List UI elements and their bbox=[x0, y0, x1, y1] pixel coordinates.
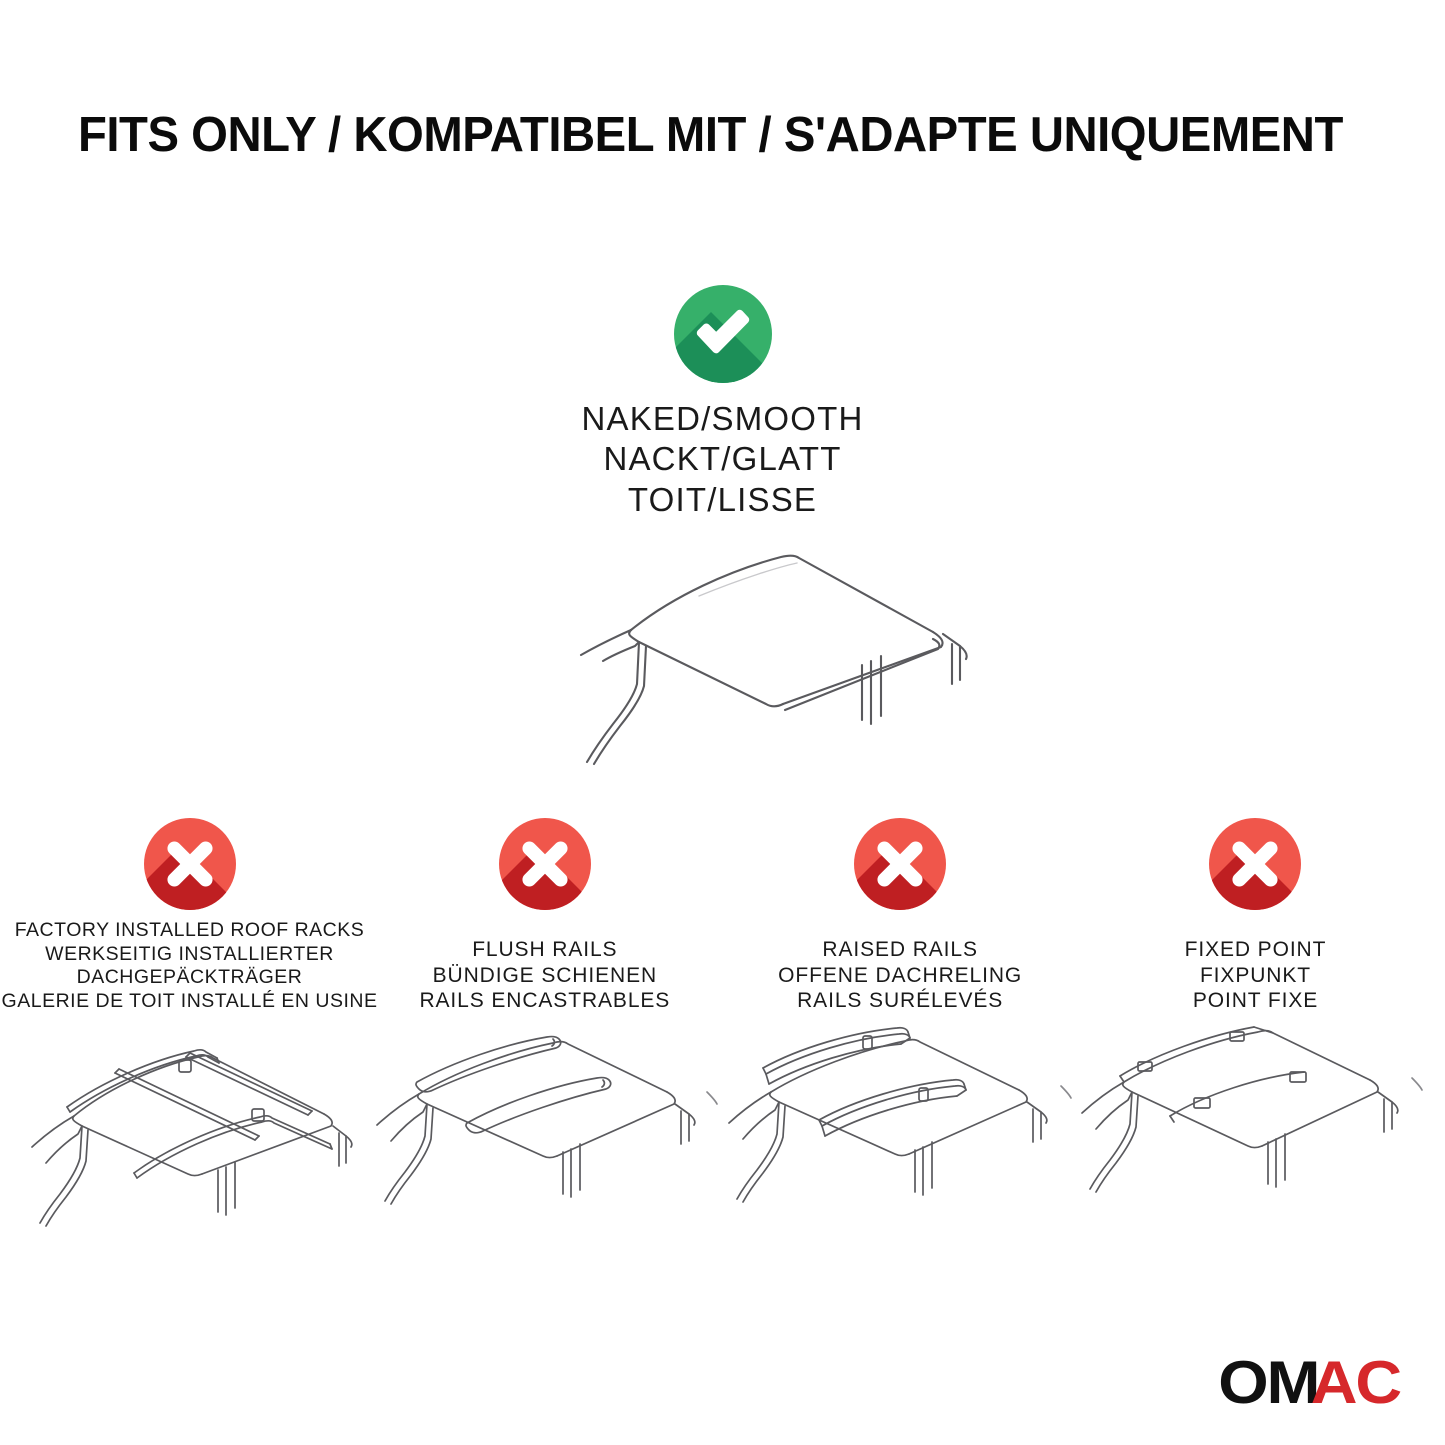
x-circle-icon bbox=[499, 818, 591, 910]
car-roof-flush-rails-illustration bbox=[367, 1024, 722, 1239]
incompatible-section: FACTORY INSTALLED ROOF RACKS WERKSEITIG … bbox=[0, 818, 1445, 1239]
x-circle-icon bbox=[854, 818, 946, 910]
car-roof-factory-roof-racks-illustration bbox=[12, 1024, 367, 1239]
x-mark-glyph bbox=[854, 818, 946, 910]
label-line-de: FIXPUNKT bbox=[1185, 963, 1327, 989]
incompatible-label-raised-rails: RAISED RAILS OFFENE DACHRELING RAILS SUR… bbox=[778, 922, 1022, 1014]
incompatible-label-fixed-point: FIXED POINT FIXPUNKT POINT FIXE bbox=[1185, 922, 1327, 1014]
omac-logo: OM AC bbox=[1222, 1353, 1397, 1413]
label-line-en: RAISED RAILS bbox=[778, 937, 1022, 963]
label-line-en: FACTORY INSTALLED ROOF RACKS bbox=[2, 919, 378, 943]
incompatible-label-factory-roof-racks: FACTORY INSTALLED ROOF RACKS WERKSEITIG … bbox=[2, 922, 378, 1014]
incompatible-label-flush-rails: FLUSH RAILS BÜNDIGE SCHIENEN RAILS ENCAS… bbox=[419, 922, 670, 1014]
label-line-de: OFFENE DACHRELING bbox=[778, 963, 1022, 989]
label-line-de-2: DACHGEPÄCKTRÄGER bbox=[2, 966, 378, 990]
x-mark-glyph bbox=[144, 818, 236, 910]
compatible-section: NAKED/SMOOTH NACKT/GLATT TOIT/LISSE bbox=[0, 285, 1445, 784]
incompatible-item-raised-rails: RAISED RAILS OFFENE DACHRELING RAILS SUR… bbox=[723, 818, 1078, 1239]
compatible-label-de: NACKT/GLATT bbox=[581, 439, 863, 479]
label-line-en: FLUSH RAILS bbox=[419, 937, 670, 963]
page-title: FITS ONLY / KOMPATIBEL MIT / S'ADAPTE UN… bbox=[78, 104, 1378, 166]
label-line-fr: GALERIE DE TOIT INSTALLÉ EN USINE bbox=[2, 990, 378, 1014]
car-roof-raised-rails-illustration bbox=[723, 1024, 1078, 1239]
x-circle-icon bbox=[1209, 818, 1301, 910]
x-circle-icon bbox=[144, 818, 236, 910]
incompatible-item-factory-roof-racks: FACTORY INSTALLED ROOF RACKS WERKSEITIG … bbox=[12, 818, 367, 1239]
compatible-label-fr: TOIT/LISSE bbox=[581, 480, 863, 520]
logo-text-red: AC bbox=[1311, 1353, 1400, 1413]
label-line-de-1: WERKSEITIG INSTALLIERTER bbox=[2, 943, 378, 967]
label-line-en: FIXED POINT bbox=[1185, 937, 1327, 963]
car-roof-naked-smooth-illustration bbox=[463, 534, 983, 784]
incompatible-item-fixed-point: FIXED POINT FIXPUNKT POINT FIXE bbox=[1078, 818, 1433, 1239]
compatible-label-en: NAKED/SMOOTH bbox=[581, 399, 863, 439]
car-roof-fixed-point-illustration bbox=[1078, 1024, 1433, 1239]
check-circle-icon bbox=[674, 285, 772, 383]
logo-text-dark: OM bbox=[1218, 1353, 1318, 1413]
incompatible-item-flush-rails: FLUSH RAILS BÜNDIGE SCHIENEN RAILS ENCAS… bbox=[367, 818, 722, 1239]
label-line-de: BÜNDIGE SCHIENEN bbox=[419, 963, 670, 989]
x-mark-glyph bbox=[1209, 818, 1301, 910]
label-line-fr: POINT FIXE bbox=[1185, 988, 1327, 1014]
compatible-label: NAKED/SMOOTH NACKT/GLATT TOIT/LISSE bbox=[581, 399, 863, 520]
page-title-text: FITS ONLY / KOMPATIBEL MIT / S'ADAPTE UN… bbox=[78, 111, 1343, 160]
label-line-fr: RAILS ENCASTRABLES bbox=[419, 988, 670, 1014]
x-mark-glyph bbox=[499, 818, 591, 910]
check-mark-glyph bbox=[674, 285, 772, 383]
label-line-fr: RAILS SURÉLEVÉS bbox=[778, 988, 1022, 1014]
